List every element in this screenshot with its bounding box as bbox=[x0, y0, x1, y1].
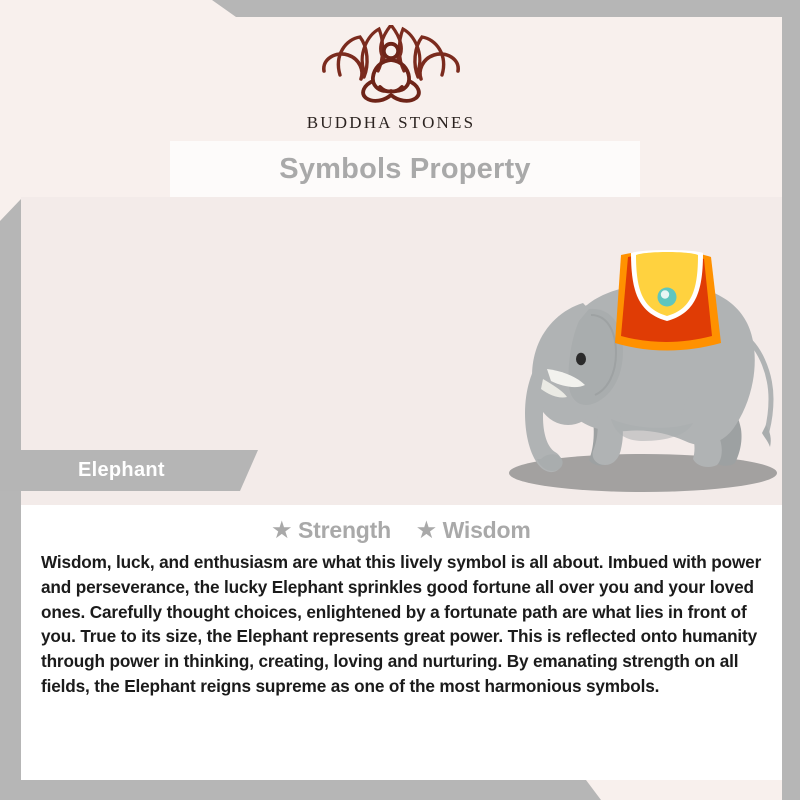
brand-header: BUDDHA STONES bbox=[0, 17, 782, 141]
infographic-card: BUDDHA STONES Symbols Property bbox=[0, 0, 800, 800]
decor-bottom-bar bbox=[0, 780, 800, 800]
section-title-band: Symbols Property bbox=[170, 141, 640, 197]
lotus-meditation-icon bbox=[316, 25, 466, 107]
star-icon: ★ bbox=[272, 520, 291, 541]
decor-left-bar bbox=[0, 199, 21, 800]
decor-top-bar bbox=[0, 0, 800, 17]
elephant-eye bbox=[576, 353, 586, 365]
brand-name: BUDDHA STONES bbox=[307, 113, 476, 133]
trait-wisdom: ★ Wisdom bbox=[417, 517, 531, 544]
elephant-illustration-icon bbox=[246, 222, 586, 487]
trait-strength-label: Strength bbox=[298, 517, 391, 544]
page-title: Symbols Property bbox=[279, 153, 530, 186]
trait-list: ★ Strength ★ Wisdom bbox=[39, 517, 764, 544]
trait-wisdom-label: Wisdom bbox=[443, 517, 531, 544]
saddle-gem-highlight bbox=[661, 290, 669, 298]
symbol-description: Wisdom, luck, and enthusiasm are what th… bbox=[39, 550, 764, 699]
trait-strength: ★ Strength bbox=[272, 517, 391, 544]
decor-right-bar bbox=[782, 0, 800, 800]
description-panel: ★ Strength ★ Wisdom Wisdom, luck, and en… bbox=[21, 505, 782, 780]
symbol-name-ribbon: Elephant bbox=[0, 450, 258, 491]
star-icon: ★ bbox=[417, 520, 436, 541]
symbol-name: Elephant bbox=[78, 459, 165, 482]
